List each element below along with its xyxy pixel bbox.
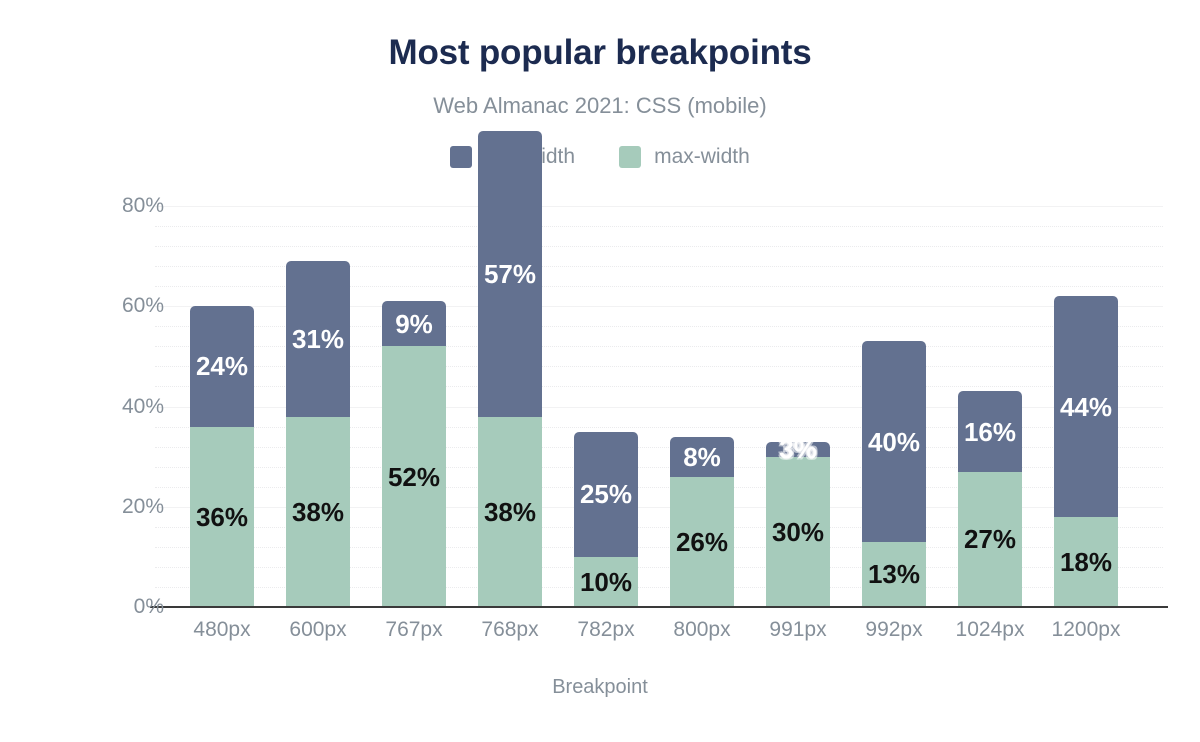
legend-swatch-icon [450,146,472,168]
y-tick-label: 40% [44,396,164,418]
bar-group[interactable]: 38%57% [478,206,542,607]
bar-value-label: 27% [964,526,1016,552]
bar-segment-max-width[interactable]: 27% [958,472,1022,607]
bar-segment-max-width[interactable]: 13% [862,542,926,607]
bar-value-label: 9% [395,311,433,337]
chart-legend: min-widthmax-width [0,143,1200,171]
bar-value-label: 38% [484,499,536,525]
bar-segment-min-width[interactable]: 40% [862,341,926,542]
bar-value-label: 13% [868,561,920,587]
bar-group[interactable]: 30%3% [766,206,830,607]
bar-value-label: 31% [292,326,344,352]
bar-group[interactable]: 13%40% [862,206,926,607]
bar-group[interactable]: 10%25% [574,206,638,607]
bar-value-label: 18% [1060,549,1112,575]
bar-value-label: 8% [683,444,721,470]
bar-group[interactable]: 26%8% [670,206,734,607]
bar-segment-min-width[interactable]: 3% [766,442,830,457]
bar-value-label: 25% [580,481,632,507]
bar-group[interactable]: 36%24% [190,206,254,607]
bar-segment-max-width[interactable]: 30% [766,457,830,607]
bar-segment-max-width[interactable]: 38% [286,417,350,607]
plot-area: 36%24%38%31%52%9%38%57%10%25%26%8%30%3%1… [155,206,1163,607]
y-tick-label: 60% [44,295,164,317]
chart-title: Most popular breakpoints [0,32,1200,74]
bar-segment-min-width[interactable]: 25% [574,432,638,557]
y-tick-label: 20% [44,496,164,518]
bar-segment-min-width[interactable]: 57% [478,131,542,417]
bar-value-label: 44% [1060,394,1112,420]
bars-layer: 36%24%38%31%52%9%38%57%10%25%26%8%30%3%1… [155,206,1163,607]
y-tick-label: 80% [44,195,164,217]
y-tick-label: 0% [44,596,164,618]
bar-value-label: 30% [772,519,824,545]
x-axis-baseline [150,606,1168,608]
bar-value-label: 36% [196,504,248,530]
bar-value-label: 40% [868,429,920,455]
bar-group[interactable]: 27%16% [958,206,1022,607]
x-tick-label: 1200px [1026,618,1146,642]
bar-segment-min-width[interactable]: 9% [382,301,446,346]
bar-segment-max-width[interactable]: 52% [382,346,446,607]
legend-item-max-width[interactable]: max-width [619,145,750,169]
bar-segment-max-width[interactable]: 10% [574,557,638,607]
bar-value-label: 16% [964,419,1016,445]
bar-group[interactable]: 38%31% [286,206,350,607]
bar-value-label: 24% [196,353,248,379]
bar-segment-max-width[interactable]: 36% [190,427,254,607]
bar-value-label: 26% [676,529,728,555]
bar-segment-min-width[interactable]: 16% [958,391,1022,471]
bar-segment-min-width[interactable]: 31% [286,261,350,416]
bar-group[interactable]: 52%9% [382,206,446,607]
chart-subtitle: Web Almanac 2021: CSS (mobile) [0,92,1200,120]
bar-value-label: 10% [580,569,632,595]
bar-segment-max-width[interactable]: 18% [1054,517,1118,607]
legend-item-label: max-width [654,145,750,169]
bar-value-label: 57% [484,261,536,287]
bar-segment-min-width[interactable]: 8% [670,437,734,477]
bar-value-label: 38% [292,499,344,525]
bar-segment-min-width[interactable]: 24% [190,306,254,426]
bar-segment-max-width[interactable]: 26% [670,477,734,607]
x-axis-title: Breakpoint [0,676,1200,699]
bar-group[interactable]: 18%44% [1054,206,1118,607]
bar-segment-min-width[interactable]: 44% [1054,296,1118,517]
chart-container: Most popular breakpoints Web Almanac 202… [0,0,1200,742]
bar-segment-max-width[interactable]: 38% [478,417,542,607]
bar-value-label: 52% [388,464,440,490]
legend-swatch-icon [619,146,641,168]
